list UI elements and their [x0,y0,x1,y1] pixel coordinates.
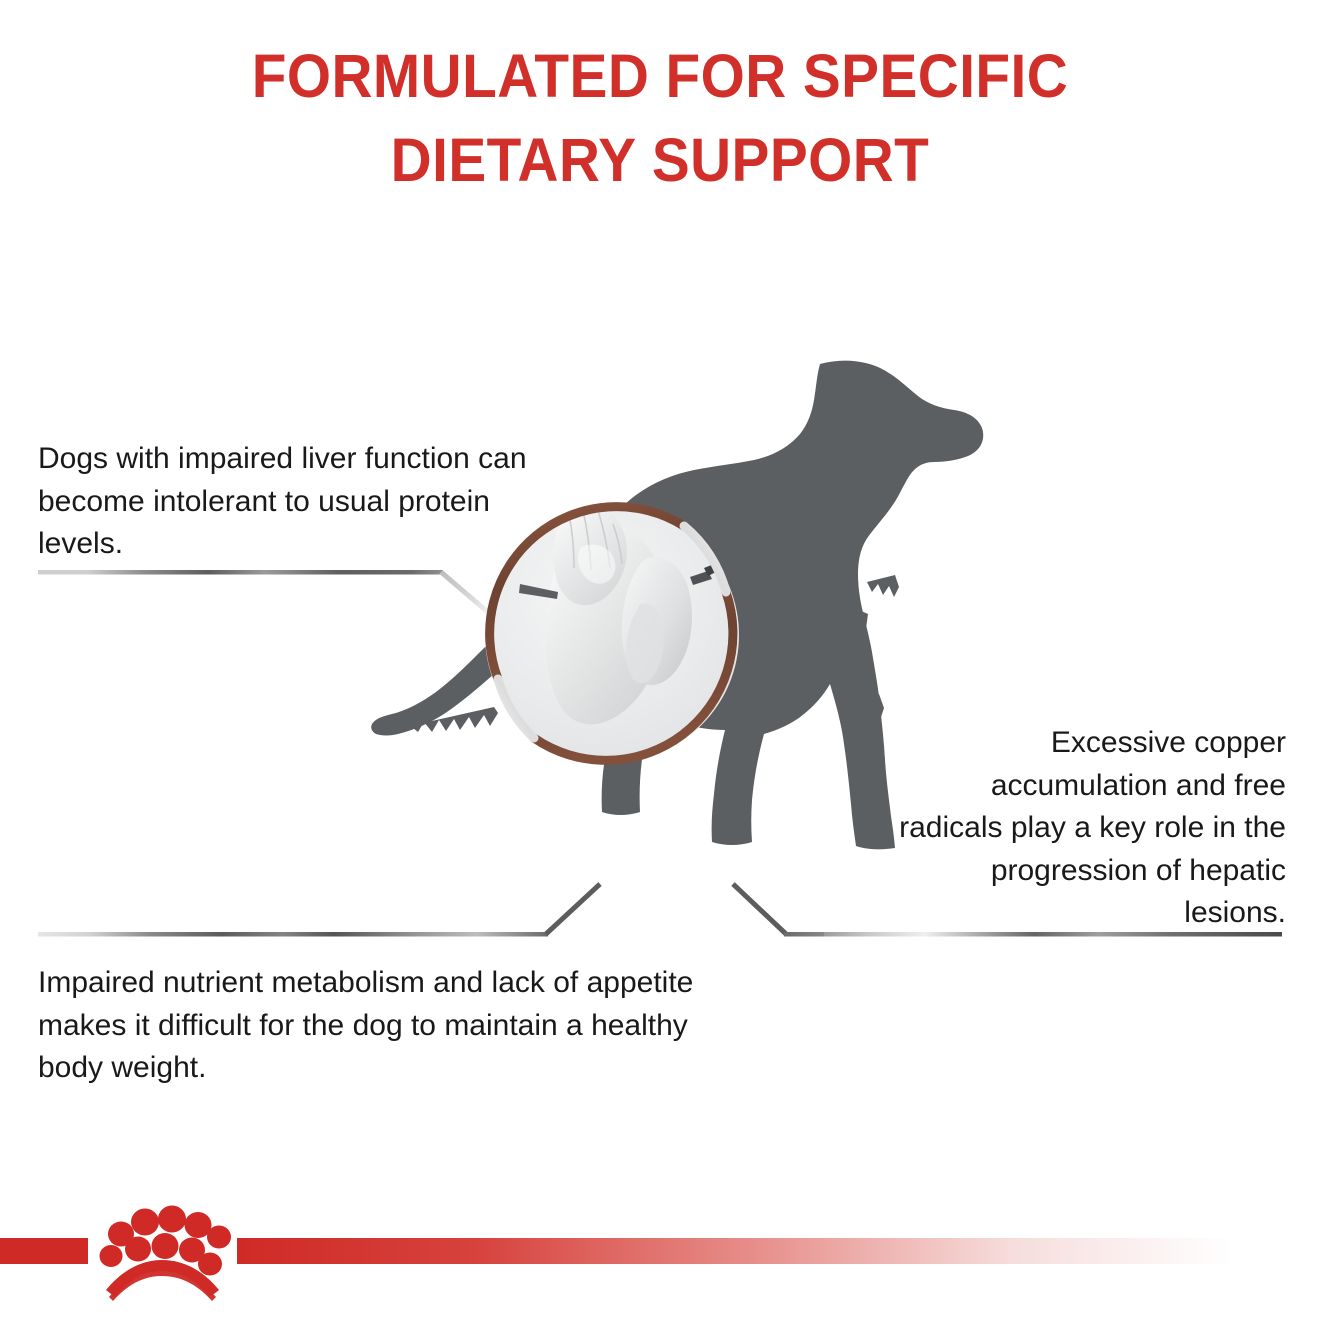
brand-bar-right-gradient [237,1238,1320,1264]
page-title: FORMULATED FOR SPECIFIC DIETARY SUPPORT [149,34,1172,202]
page-title-line-2: DIETARY SUPPORT [149,118,1172,202]
royal-canin-crown-logo [86,1202,236,1302]
brand-bar-left-segment [0,1238,88,1264]
liver-callout-circle [485,504,739,762]
dog-silhouette-svg [368,352,988,922]
callout-text-nutrient-metabolism: Impaired nutrient metabolism and lack of… [38,962,698,1090]
dog-illustration [368,352,988,922]
brand-footer-bar [0,1200,1320,1320]
page-title-line-1: FORMULATED FOR SPECIFIC [149,34,1172,118]
infographic-canvas: FORMULATED FOR SPECIFIC DIETARY SUPPORT [0,0,1320,1320]
